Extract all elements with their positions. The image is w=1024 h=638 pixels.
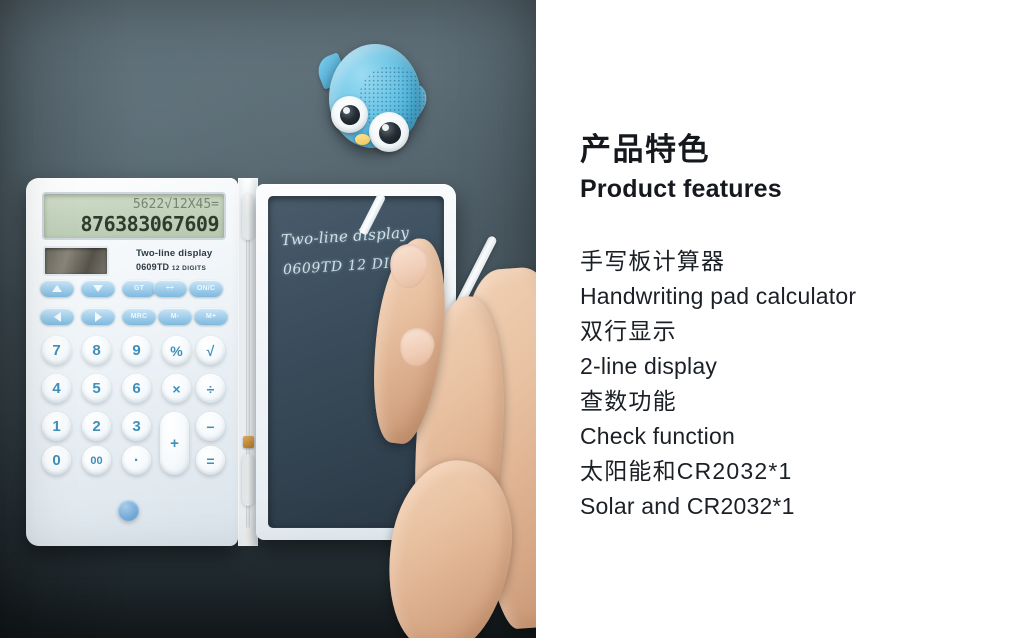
product-photo: 5622√12X45= 876383067609 Two-line displa…	[0, 0, 536, 638]
feature-1-chinese: 手写板计算器	[580, 244, 1010, 279]
features-text-block: 产品特色 Product features 手写板计算器 Handwriting…	[580, 130, 1010, 524]
panel-heading-chinese: 产品特色	[580, 130, 1010, 170]
screenshot-root: 5622√12X45= 876383067609 Two-line displa…	[0, 0, 1024, 638]
feature-4-chinese: 太阳能和CR2032*1	[580, 454, 1010, 489]
feature-3-chinese: 查数功能	[580, 384, 1010, 419]
feature-4-english: Solar and CR2032*1	[580, 489, 1010, 524]
features-panel: 产品特色 Product features 手写板计算器 Handwriting…	[536, 0, 1024, 638]
feature-list: 手写板计算器 Handwriting pad calculator 双行显示 2…	[580, 244, 1010, 524]
feature-1-english: Handwriting pad calculator	[580, 279, 1010, 314]
feature-2-chinese: 双行显示	[580, 314, 1010, 349]
feature-2-english: 2-line display	[580, 349, 1010, 384]
feature-3-english: Check function	[580, 419, 1010, 454]
panel-heading-english: Product features	[580, 172, 1010, 206]
